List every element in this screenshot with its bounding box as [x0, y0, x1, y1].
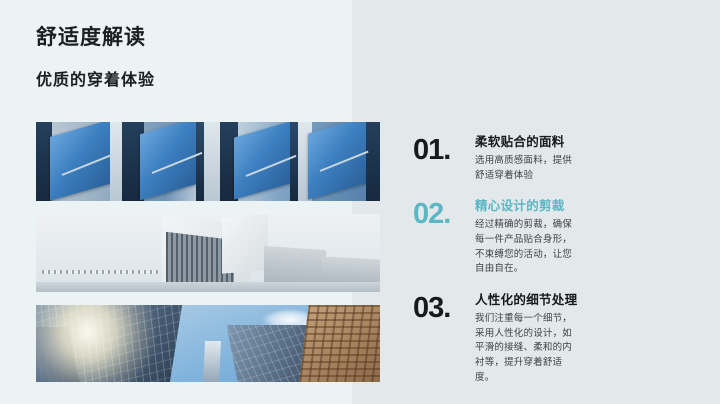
feature-number: 02. — [413, 198, 471, 229]
slide-header: 舒适度解读 优质的穿着体验 — [36, 24, 336, 92]
feature-title: 柔软贴合的面料 — [475, 134, 693, 151]
feature-title: 人性化的细节处理 — [475, 292, 693, 309]
feature-list: 01. 柔软贴合的面料 选用高质感面料，提供舒适穿着体验 02. 精心设计的剪裁… — [413, 134, 693, 401]
blue-glass-facade-photo — [36, 122, 380, 201]
feature-number: 03. — [413, 292, 471, 323]
building-ground-line — [36, 282, 380, 292]
feature-number: 01. — [413, 134, 471, 165]
modern-white-building-photo — [36, 214, 380, 292]
feature-item-03[interactable]: 03. 人性化的细节处理 我们注重每一个细节，采用人性化的设计，如平滑的接缝、柔… — [413, 292, 693, 385]
feature-body: 选用高质感面料，提供舒适穿着体验 — [475, 154, 579, 183]
building-roof-block — [222, 214, 268, 273]
brick-building — [299, 305, 380, 382]
page-title: 舒适度解读 — [36, 24, 336, 51]
sun-glare — [36, 305, 163, 382]
feature-item-01[interactable]: 01. 柔软贴合的面料 选用高质感面料，提供舒适穿着体验 — [413, 134, 693, 183]
distant-tower — [203, 341, 221, 382]
image-gallery — [36, 122, 380, 382]
feature-item-02[interactable]: 02. 精心设计的剪裁 经过精确的剪裁，确保每一件产品贴合身形，不束缚您的活动，… — [413, 198, 693, 277]
building-fence-rail — [42, 270, 160, 274]
slide-canvas: 舒适度解读 优质的穿着体验 — [0, 0, 720, 404]
feature-title: 精心设计的剪裁 — [475, 198, 693, 215]
facade-column — [366, 122, 380, 201]
feature-body: 经过精确的剪裁，确保每一件产品贴合身形，不束缚您的活动，让您自由自在。 — [475, 218, 579, 277]
page-subtitle: 优质的穿着体验 — [36, 71, 336, 92]
feature-body: 我们注重每一个细节，采用人性化的设计，如平滑的接缝、柔和的内衬等，提升穿着舒适度… — [475, 312, 579, 386]
glass-skyscrapers-photo — [36, 305, 380, 382]
